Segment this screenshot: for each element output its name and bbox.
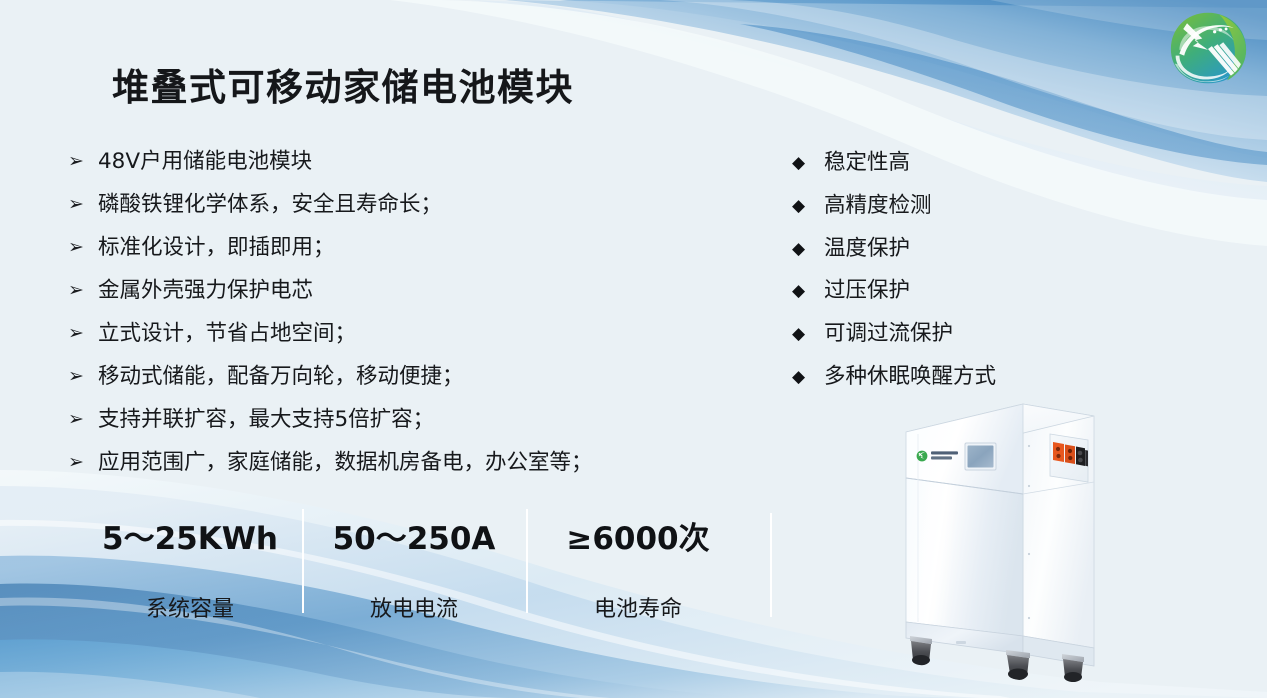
spec-label: 放电电流 <box>370 591 458 623</box>
spec-stats-strip: 5〜25KWh 系统容量 50〜250A 放电电流 ≥6000次 电池寿命 <box>78 504 750 616</box>
list-item-label: 磷酸铁锂化学体系，安全且寿命长； <box>98 191 442 218</box>
list-item: ◆ 过压保护 <box>792 278 1092 321</box>
arrow-bullet-icon: ➢ <box>68 406 98 433</box>
list-item: ➢ 应用范围广，家庭储能，数据机房备电，办公室等； <box>68 449 758 492</box>
diamond-bullet-icon: ◆ <box>792 278 824 304</box>
battery-cabinet-image <box>866 386 1126 686</box>
list-item: ➢ 移动式储能，配备万向轮，移动便捷； <box>68 363 758 406</box>
diamond-bullet-icon: ◆ <box>792 364 824 390</box>
list-item: ➢ 磷酸铁锂化学体系，安全且寿命长； <box>68 191 758 234</box>
spec-stat-current: 50〜250A 放电电流 <box>302 504 526 616</box>
caster-wheel-front-left <box>910 636 932 665</box>
list-item: ➢ 48V户用储能电池模块 <box>68 148 758 191</box>
slide-canvas: 堆叠式可移动家储电池模块 ➢ 48V户用储能电池模块 ➢ 磷酸铁锂化学体系，安全… <box>0 0 1267 698</box>
spec-label: 系统容量 <box>146 591 234 623</box>
list-item-label: 标准化设计，即插即用； <box>98 234 335 261</box>
spec-value: ≥6000次 <box>566 513 709 558</box>
list-item-label: 温度保护 <box>824 236 910 262</box>
list-item: ◆ 高精度检测 <box>792 193 1092 236</box>
list-item-label: 48V户用储能电池模块 <box>98 148 312 175</box>
list-item: ➢ 标准化设计，即插即用； <box>68 234 758 277</box>
list-item: ◆ 温度保护 <box>792 236 1092 279</box>
list-item: ◆ 可调过流保护 <box>792 321 1092 364</box>
caster-wheel-rear-right <box>1062 654 1084 682</box>
list-item-label: 支持并联扩容，最大支持5倍扩容； <box>98 406 434 433</box>
feature-list-left: ➢ 48V户用储能电池模块 ➢ 磷酸铁锂化学体系，安全且寿命长； ➢ 标准化设计… <box>68 148 758 492</box>
list-item-label: 移动式储能，配备万向轮，移动便捷； <box>98 363 464 390</box>
arrow-bullet-icon: ➢ <box>68 148 98 175</box>
caster-wheel-front-right <box>1006 650 1030 680</box>
spec-value: 5〜25KWh <box>102 513 278 558</box>
list-item-label: 可调过流保护 <box>824 321 953 347</box>
spec-stat-lifecycle: ≥6000次 电池寿命 <box>526 504 750 616</box>
list-item-label: 应用范围广，家庭储能，数据机房备电，办公室等； <box>98 449 593 476</box>
list-item-label: 金属外壳强力保护电芯 <box>98 277 313 304</box>
diamond-bullet-icon: ◆ <box>792 193 824 219</box>
spec-label: 电池寿命 <box>594 591 682 623</box>
list-item: ◆ 稳定性高 <box>792 150 1092 193</box>
list-item: ➢ 支持并联扩容，最大支持5倍扩容； <box>68 406 758 449</box>
lcd-screen <box>968 446 994 468</box>
arrow-bullet-icon: ➢ <box>68 449 98 476</box>
slide-title: 堆叠式可移动家储电池模块 <box>112 57 574 111</box>
list-item-label: 高精度检测 <box>824 193 932 219</box>
spec-value: 50〜250A <box>333 513 496 558</box>
feature-list-right: ◆ 稳定性高 ◆ 高精度检测 ◆ 温度保护 ◆ 过压保护 ◆ 可调过流保护 ◆ … <box>792 150 1092 407</box>
arrow-bullet-icon: ➢ <box>68 191 98 218</box>
list-item: ➢ 立式设计，节省占地空间； <box>68 320 758 363</box>
diamond-bullet-icon: ◆ <box>792 236 824 262</box>
list-item: ➢ 金属外壳强力保护电芯 <box>68 277 758 320</box>
list-item-label: 稳定性高 <box>824 150 910 176</box>
diamond-bullet-icon: ◆ <box>792 321 824 347</box>
arrow-bullet-icon: ➢ <box>68 320 98 347</box>
spec-stat-capacity: 5〜25KWh 系统容量 <box>78 504 302 616</box>
list-item-label: 立式设计，节省占地空间； <box>98 320 356 347</box>
company-leaf-logo-icon <box>1160 8 1256 88</box>
list-item-label: 过压保护 <box>824 278 910 304</box>
arrow-bullet-icon: ➢ <box>68 277 98 304</box>
arrow-bullet-icon: ➢ <box>68 363 98 390</box>
diamond-bullet-icon: ◆ <box>792 150 824 176</box>
arrow-bullet-icon: ➢ <box>68 234 98 261</box>
